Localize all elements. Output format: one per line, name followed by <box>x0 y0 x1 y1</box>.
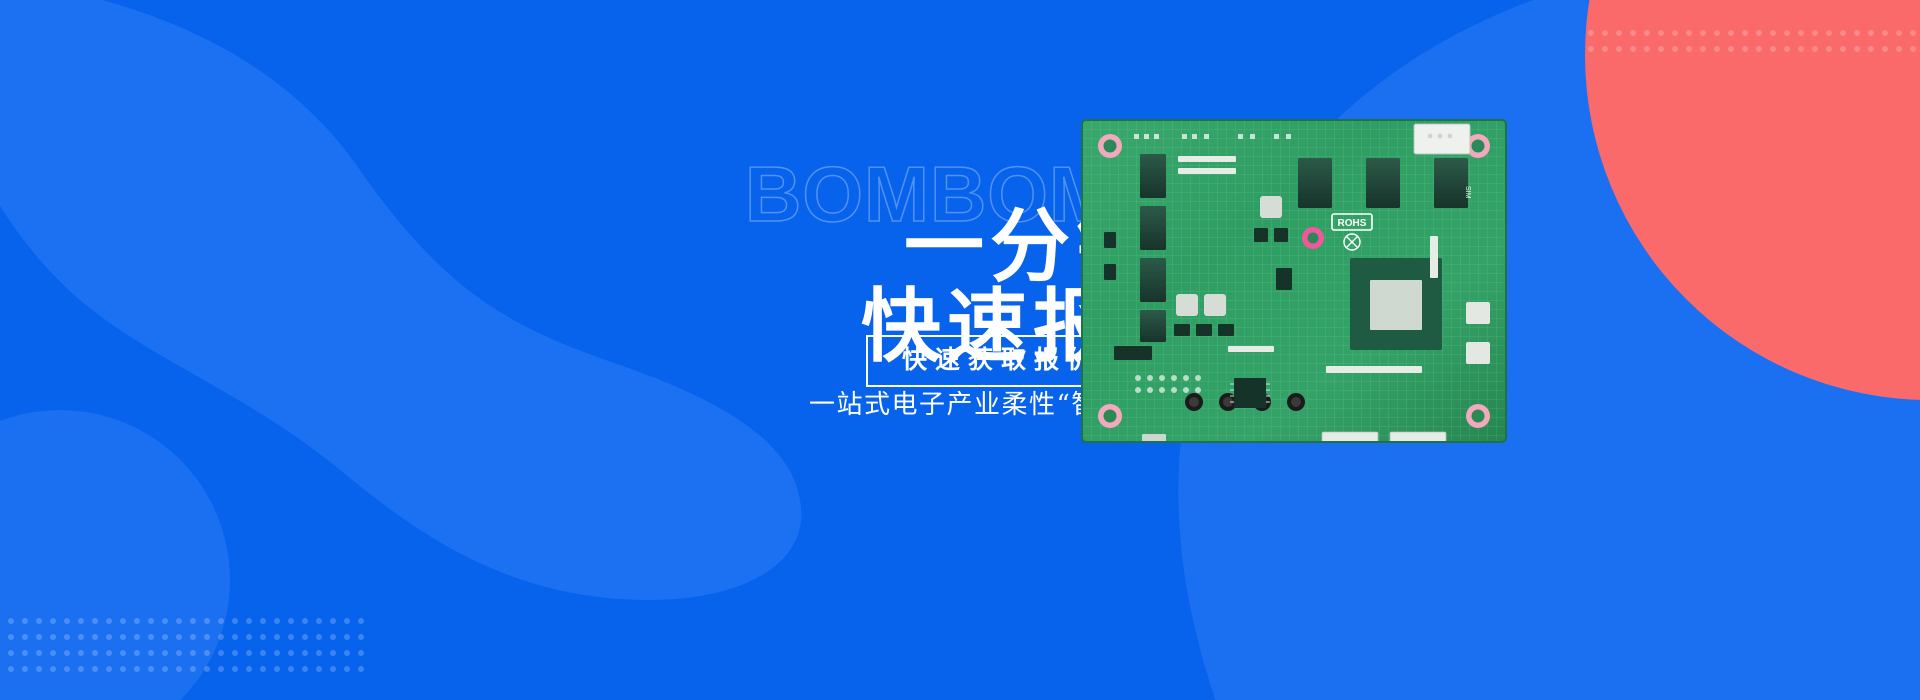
decor-dot <box>134 650 140 656</box>
decor-dot <box>1756 30 1762 36</box>
decor-dot <box>344 650 350 656</box>
decor-dot <box>246 650 252 656</box>
decor-dot <box>288 666 294 672</box>
decor-dot <box>148 650 154 656</box>
decor-dot <box>260 618 266 624</box>
decor-dot <box>1770 46 1776 52</box>
decor-dot <box>1896 46 1902 52</box>
decor-dot <box>64 634 70 640</box>
decor-dot <box>204 618 210 624</box>
decor-dot <box>288 650 294 656</box>
pcb-qfp-chip <box>1230 378 1270 408</box>
decor-dot <box>246 634 252 640</box>
decor-dot <box>8 666 14 672</box>
decor-dot <box>92 650 98 656</box>
decor-dot <box>1700 30 1706 36</box>
decor-dot <box>260 634 266 640</box>
decor-dot <box>232 634 238 640</box>
decor-dot <box>358 618 364 624</box>
decor-dot <box>274 666 280 672</box>
decor-dot <box>1882 30 1888 36</box>
decor-dot <box>1826 30 1832 36</box>
decor-dot <box>92 618 98 624</box>
decor-dot <box>358 650 364 656</box>
decor-dot <box>64 666 70 672</box>
decor-dot <box>1588 30 1594 36</box>
decor-dot <box>1812 46 1818 52</box>
decor-dot <box>64 618 70 624</box>
sim-label: SIM <box>1464 186 1471 199</box>
decor-dot <box>1644 46 1650 52</box>
decor-dot <box>1602 46 1608 52</box>
decor-dot <box>344 666 350 672</box>
svg-text:ROHS: ROHS <box>1338 218 1367 229</box>
decor-dot <box>1616 46 1622 52</box>
decor-dot <box>50 650 56 656</box>
decor-dot <box>1714 30 1720 36</box>
decor-dot <box>302 666 308 672</box>
decor-dot <box>1588 46 1594 52</box>
decor-dot <box>106 650 112 656</box>
pcb-card-slot <box>1414 124 1470 154</box>
decor-dot <box>274 634 280 640</box>
decor-dot <box>1602 30 1608 36</box>
decor-dot <box>176 634 182 640</box>
decor-dot <box>176 650 182 656</box>
decor-dot <box>1700 46 1706 52</box>
decor-dot <box>1714 46 1720 52</box>
decor-dot <box>1658 46 1664 52</box>
decor-dot <box>64 650 70 656</box>
decor-dot <box>1686 46 1692 52</box>
pcb-memory-chips-top <box>1298 158 1468 208</box>
decor-dot <box>1658 30 1664 36</box>
decor-dot <box>1630 30 1636 36</box>
decor-dot <box>1672 30 1678 36</box>
decor-dot <box>106 634 112 640</box>
decor-dot <box>260 666 266 672</box>
decor-dot <box>330 650 336 656</box>
decor-dot <box>260 650 266 656</box>
decor-dot <box>120 666 126 672</box>
decor-dot <box>1868 30 1874 36</box>
pcb-main-processor <box>1350 258 1442 350</box>
decor-dot <box>36 618 42 624</box>
decor-dot <box>1756 46 1762 52</box>
pcb-illustration: ROHS <box>1078 116 1510 456</box>
decor-dot <box>1840 46 1846 52</box>
decor-dot <box>1868 46 1874 52</box>
decor-dot <box>8 634 14 640</box>
decor-dot <box>330 666 336 672</box>
decor-dot <box>190 634 196 640</box>
decor-dot <box>302 650 308 656</box>
decor-dot <box>344 618 350 624</box>
decor-dot <box>92 666 98 672</box>
decor-dot <box>246 666 252 672</box>
decor-dot <box>1742 30 1748 36</box>
decor-dot <box>1616 30 1622 36</box>
decor-dot <box>22 650 28 656</box>
decor-dot <box>330 634 336 640</box>
decor-dot <box>232 666 238 672</box>
decor-dot <box>190 666 196 672</box>
decor-dot <box>1672 46 1678 52</box>
decor-dot <box>190 650 196 656</box>
decor-dot <box>330 618 336 624</box>
decor-dot <box>36 634 42 640</box>
decor-dot <box>22 634 28 640</box>
decor-dot <box>204 650 210 656</box>
decor-dot <box>288 634 294 640</box>
decor-dot <box>218 650 224 656</box>
decor-dot <box>8 650 14 656</box>
decor-dot <box>1910 46 1916 52</box>
decor-dot <box>1854 30 1860 36</box>
decor-dot <box>92 634 98 640</box>
decor-dot <box>22 666 28 672</box>
decor-dot <box>1826 46 1832 52</box>
decor-dot <box>1770 30 1776 36</box>
decor-dot <box>36 666 42 672</box>
decor-dot <box>1798 46 1804 52</box>
pcb-memory-chips-left <box>1140 154 1166 342</box>
decor-dot <box>1630 46 1636 52</box>
decor-dot <box>316 618 322 624</box>
decor-dot <box>120 634 126 640</box>
decor-dot <box>78 666 84 672</box>
decor-dot <box>162 666 168 672</box>
decor-dot <box>120 618 126 624</box>
decor-dot <box>218 666 224 672</box>
decor-dot <box>1644 30 1650 36</box>
decor-dot <box>78 634 84 640</box>
decor-dot <box>1854 46 1860 52</box>
decor-dot <box>148 618 154 624</box>
decor-dot <box>148 634 154 640</box>
decor-dot <box>204 634 210 640</box>
decor-dot <box>316 666 322 672</box>
decor-dot <box>316 650 322 656</box>
decor-dot <box>176 618 182 624</box>
decor-dot <box>148 666 154 672</box>
decor-dot <box>316 634 322 640</box>
decor-dot <box>78 650 84 656</box>
pcb-board-image: ROHS <box>1078 116 1510 456</box>
decor-dot <box>134 634 140 640</box>
decor-dot <box>232 650 238 656</box>
decor-dot <box>1882 46 1888 52</box>
decor-dot <box>344 634 350 640</box>
decor-dot <box>176 666 182 672</box>
decor-dot <box>134 618 140 624</box>
decor-dot <box>358 634 364 640</box>
promo-banner: BOMBOM 一分钟 快速报价 快速获取报价信息 一站式电子产业柔性“智”造服务… <box>0 0 1920 700</box>
decor-dot <box>1728 30 1734 36</box>
decor-dot <box>1798 30 1804 36</box>
decor-dot <box>50 666 56 672</box>
decor-dot <box>218 634 224 640</box>
decor-dot <box>1812 30 1818 36</box>
decor-dot <box>302 618 308 624</box>
decor-dot <box>162 634 168 640</box>
decor-dot <box>106 666 112 672</box>
decor-dot <box>8 618 14 624</box>
decor-dot <box>288 618 294 624</box>
decor-dot <box>106 618 112 624</box>
decor-dot <box>218 618 224 624</box>
decor-dot <box>120 650 126 656</box>
decor-dot <box>358 666 364 672</box>
decor-dot <box>1910 30 1916 36</box>
decor-dot <box>274 618 280 624</box>
decor-dot <box>232 618 238 624</box>
decor-dot <box>246 618 252 624</box>
decor-dot <box>1728 46 1734 52</box>
decor-dot <box>190 618 196 624</box>
decor-dot <box>134 666 140 672</box>
decor-dot <box>1742 46 1748 52</box>
decor-dot <box>22 618 28 624</box>
decor-dot <box>302 634 308 640</box>
decor-dot <box>50 618 56 624</box>
decor-dot <box>204 666 210 672</box>
decor-dot <box>1840 30 1846 36</box>
decor-dot <box>78 618 84 624</box>
decor-dot <box>1686 30 1692 36</box>
decor-dot <box>1896 30 1902 36</box>
decor-dot <box>274 650 280 656</box>
decor-dot <box>1784 30 1790 36</box>
decor-dot <box>50 634 56 640</box>
decor-dot <box>1784 46 1790 52</box>
decor-dot <box>162 618 168 624</box>
decor-dot <box>36 650 42 656</box>
decor-dot <box>162 650 168 656</box>
